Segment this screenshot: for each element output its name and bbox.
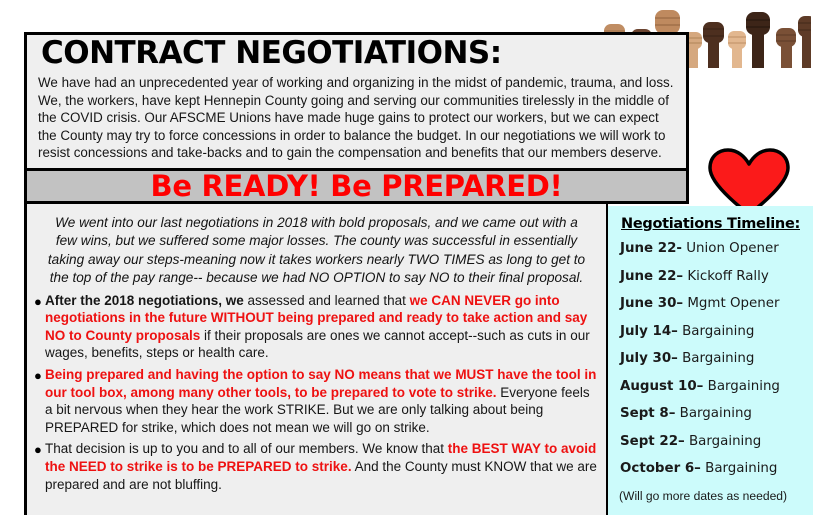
timeline-event: Bargaining <box>675 406 752 421</box>
timeline-date: June 22- <box>620 241 682 256</box>
bullet-marker-icon: ● <box>34 293 42 310</box>
timeline-row: June 22– Kickoff Rally <box>608 269 813 284</box>
timeline-event: Bargaining <box>685 434 762 449</box>
intro-paragraph: We have had an unprecedented year of wor… <box>30 72 685 167</box>
timeline-row: July 30– Bargaining <box>608 351 813 366</box>
bullet-1-seg-1: assessed and learned that <box>248 293 410 308</box>
timeline-date: Sept 8– <box>620 406 675 421</box>
timeline-event: Union Opener <box>682 241 779 256</box>
contract-negotiations-flyer: CONTRACT NEGOTIATIONS: We have had an un… <box>0 0 813 515</box>
body-content-column: We went into our last negotiations in 20… <box>24 204 608 515</box>
timeline-row: July 14– Bargaining <box>608 324 813 339</box>
timeline-date: July 14– <box>620 324 678 339</box>
timeline-row: Sept 22– Bargaining <box>608 434 813 449</box>
list-item: ●After the 2018 negotiations, we assesse… <box>33 292 600 362</box>
timeline-note: (Will go more dates as needed) <box>608 489 813 503</box>
bullet-3-seg-0: That decision is up to you and to all of… <box>45 441 448 456</box>
timeline-event: Bargaining <box>678 351 755 366</box>
timeline-row: October 6– Bargaining <box>608 461 813 476</box>
be-ready-banner: Be READY! Be PREPARED! <box>24 168 689 204</box>
timeline-date: October 6– <box>620 461 701 476</box>
timeline-date: Sept 22– <box>620 434 685 449</box>
timeline-date: July 30– <box>620 351 678 366</box>
timeline-heading: Negotiations Timeline: <box>608 216 813 232</box>
timeline-event: Bargaining <box>703 379 780 394</box>
timeline-event: Bargaining <box>701 461 778 476</box>
bullet-marker-icon: ● <box>34 441 42 458</box>
be-ready-banner-text: Be READY! Be PREPARED! <box>151 172 563 201</box>
timeline-date: June 22– <box>620 269 683 284</box>
page-title-band: CONTRACT NEGOTIATIONS: <box>27 35 686 71</box>
timeline-row: Sept 8– Bargaining <box>608 406 813 421</box>
bullet-1-seg-0: After the 2018 negotiations, we <box>45 293 248 308</box>
bullet-marker-icon: ● <box>34 367 42 384</box>
timeline-row: August 10– Bargaining <box>608 379 813 394</box>
timeline-event: Kickoff Rally <box>683 269 769 284</box>
page-title: CONTRACT NEGOTIATIONS: <box>27 38 502 69</box>
timeline-event: Bargaining <box>678 324 755 339</box>
timeline-date: June 30– <box>620 296 683 311</box>
timeline-date: August 10– <box>620 379 703 394</box>
bullet-list: ●After the 2018 negotiations, we assesse… <box>27 288 606 494</box>
timeline-row: June 30– Mgmt Opener <box>608 296 813 311</box>
list-item: ●Being prepared and having the option to… <box>33 366 600 436</box>
timeline-row: June 22- Union Opener <box>608 241 813 256</box>
list-item: ●That decision is up to you and to all o… <box>33 440 600 493</box>
italic-intro-block: We went into our last negotiations in 20… <box>27 204 606 288</box>
negotiations-timeline-panel: Negotiations Timeline: June 22- Union Op… <box>608 206 813 515</box>
timeline-event: Mgmt Opener <box>683 296 779 311</box>
